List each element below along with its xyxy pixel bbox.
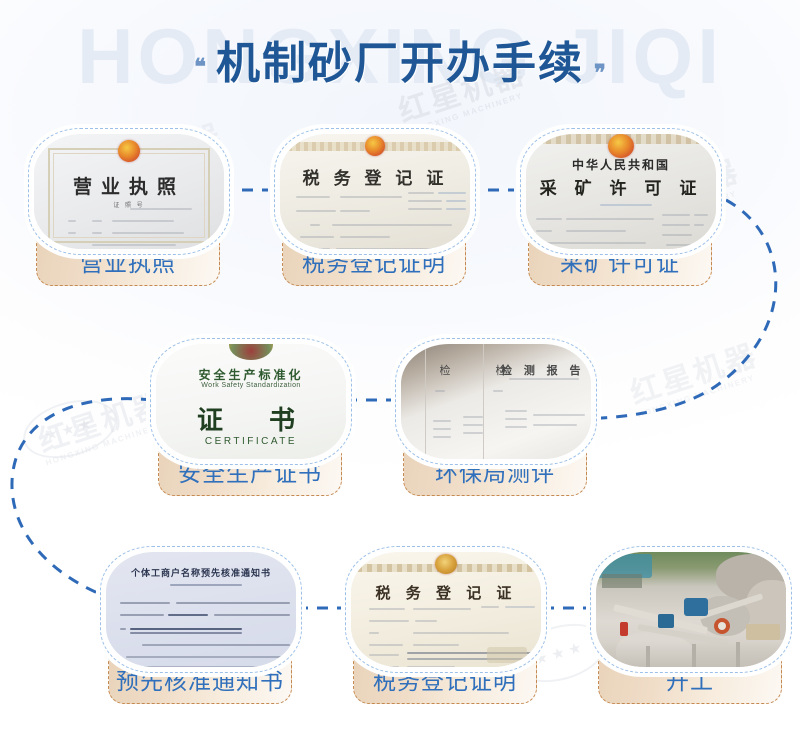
- seal-watermark: ★★★: [16, 390, 123, 468]
- step-photo[interactable]: 中华人民共和国 采 矿 许 可 证: [520, 128, 722, 255]
- certificate-art-tax-registration: 税 务 登 记 证: [280, 134, 470, 249]
- certificate-subtitle: 中华人民共和国: [526, 156, 716, 173]
- step-card: 安全生产证书 安全生产标准化 Work Safety Standardizati…: [150, 338, 350, 465]
- certificate-title: 采 矿 许 可 证: [526, 174, 716, 199]
- step-card: 税务登记证明 税 务 登 记 证: [345, 546, 545, 673]
- certificate-art-preapproval-notice: 个体工商户名称预先核准通知书: [106, 552, 296, 667]
- page-title-group: ❝ 机制砂厂开办手续 ❞: [0, 28, 800, 90]
- step-card: 开工: [590, 546, 790, 673]
- step-photo[interactable]: [590, 546, 792, 673]
- certificate-caption: CERTIFICATE: [156, 436, 346, 447]
- certificate-art-tax-registration-2: 税 务 登 记 证: [351, 552, 541, 667]
- page-title: 机制砂厂开办手续: [216, 27, 584, 91]
- certificate-glyph: 检: [491, 362, 511, 378]
- step-card: 预先核准通知书 个体工商户名称预先核准通知书: [100, 546, 300, 673]
- certificate-subtitle: 安全生产标准化: [156, 366, 346, 383]
- step-card: 采矿许可证 中华人民共和国 采 矿 许 可 证: [520, 128, 720, 255]
- step-photo[interactable]: 税 务 登 记 证: [274, 128, 476, 255]
- step-card: 税务登记证明 税 务 登 记 证: [274, 128, 474, 255]
- infographic-canvas: HONGXING JIQI 红星机器 HONGXING MACHINERY 红星…: [0, 0, 800, 749]
- certificate-title: 税 务 登 记 证: [351, 582, 541, 603]
- certificate-subtitle: 检: [435, 362, 455, 378]
- step-card: 环保局测评 检 测 报 告 检 检: [395, 338, 595, 465]
- certificate-art-business-license: 营业执照 证 照 号: [34, 134, 224, 249]
- brand-watermark-en: HONGXING MACHINERY: [637, 371, 765, 419]
- brand-watermark: 红星机器 HONGXING MACHINERY: [627, 341, 765, 420]
- certificate-art-inspection-report: 检 测 报 告 检 检: [401, 344, 591, 459]
- step-photo[interactable]: 营业执照 证 照 号: [28, 128, 230, 255]
- step-photo[interactable]: 安全生产标准化 Work Safety Standardization 证 书 …: [150, 338, 352, 465]
- brand-watermark-cn: 红星机器: [627, 341, 762, 410]
- certificate-subtitle: 证 照 号: [34, 200, 224, 209]
- certificate-title: 营业执照: [34, 172, 224, 199]
- quarry-site-photo: [596, 552, 786, 667]
- quote-right-icon: ❞: [594, 60, 606, 86]
- certificate-subtitle-en: Work Safety Standardization: [156, 382, 346, 389]
- certificate-title: 个体工商户名称预先核准通知书: [106, 566, 296, 579]
- step-photo[interactable]: 个体工商户名称预先核准通知书: [100, 546, 302, 673]
- certificate-art-safety-certificate: 安全生产标准化 Work Safety Standardization 证 书 …: [156, 344, 346, 459]
- certificate-title: 税 务 登 记 证: [280, 164, 470, 189]
- certificate-title: 检 测 报 告: [501, 362, 583, 378]
- certificate-title: 证 书: [156, 400, 346, 437]
- step-card: 营业执照 营业执照 证 照 号: [28, 128, 228, 255]
- step-photo[interactable]: 检 测 报 告 检 检: [395, 338, 597, 465]
- quote-left-icon: ❝: [194, 54, 206, 80]
- certificate-art-mining-license: 中华人民共和国 采 矿 许 可 证: [526, 134, 716, 249]
- step-photo[interactable]: 税 务 登 记 证: [345, 546, 547, 673]
